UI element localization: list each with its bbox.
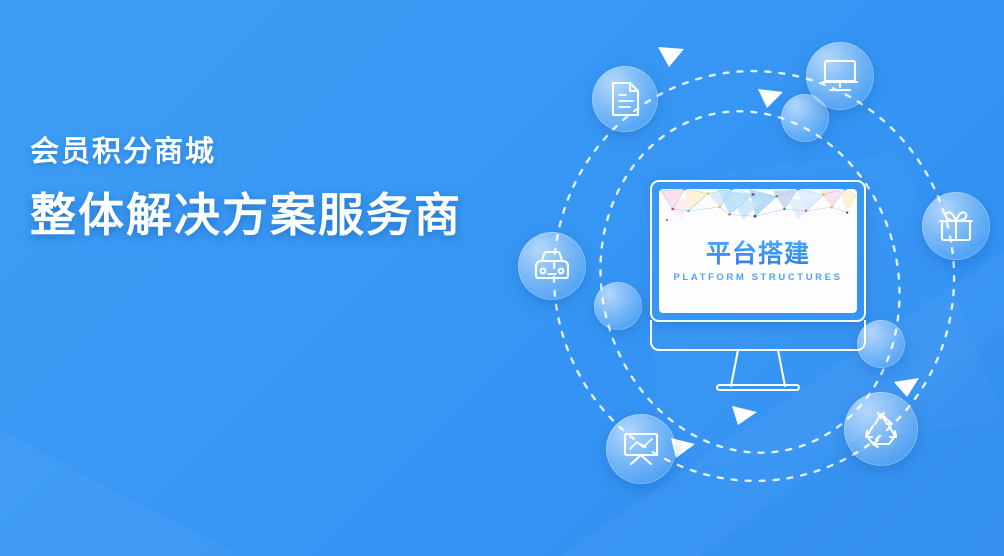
car-icon-bubble[interactable]: [518, 232, 586, 300]
desktop-icon: [821, 59, 859, 93]
monitor-title: 平台搭建: [659, 239, 857, 269]
monitor-text: 平台搭建 PLATFORM STRUCTURES: [659, 239, 857, 283]
eyebrow-text: 会员积分商城: [30, 132, 500, 172]
document-icon: [608, 81, 642, 117]
arrow-marker-top-left: [658, 47, 684, 67]
monitor-chin: [650, 320, 866, 351]
chart-board-icon: [622, 431, 660, 467]
recycle-icon: [861, 410, 901, 448]
arrow-marker-bottom-inner: [732, 406, 757, 425]
gift-icon: [938, 209, 974, 243]
bubble-left: [594, 282, 642, 330]
monitor-screen: 平台搭建 PLATFORM STRUCTURES: [659, 189, 857, 313]
polygon-network-decoration: [659, 189, 857, 229]
chart-board-icon-bubble[interactable]: [606, 414, 676, 484]
car-icon: [532, 250, 572, 282]
monitor-frame: 平台搭建 PLATFORM STRUCTURES: [650, 180, 866, 322]
gift-icon-bubble[interactable]: [922, 192, 990, 260]
monitor-subtitle: PLATFORM STRUCTURES: [659, 272, 857, 283]
illustration: 平台搭建 PLATFORM STRUCTURES: [498, 14, 1004, 534]
monitor-stand-neck: [729, 350, 787, 388]
recycle-icon-bubble[interactable]: [844, 392, 918, 466]
bubble-top: [781, 94, 829, 142]
banner-canvas: 会员积分商城 整体解决方案服务商: [0, 0, 1004, 556]
monitor-stand-base: [716, 384, 800, 391]
bubble-right: [857, 320, 905, 368]
headline-block: 会员积分商城 整体解决方案服务商: [30, 132, 500, 244]
arrow-marker-bottom-right: [894, 378, 919, 397]
page-title: 整体解决方案服务商: [30, 186, 500, 244]
arrow-marker-top-inner: [758, 89, 783, 108]
monitor: 平台搭建 PLATFORM STRUCTURES: [650, 180, 866, 380]
document-icon-bubble[interactable]: [592, 66, 658, 132]
